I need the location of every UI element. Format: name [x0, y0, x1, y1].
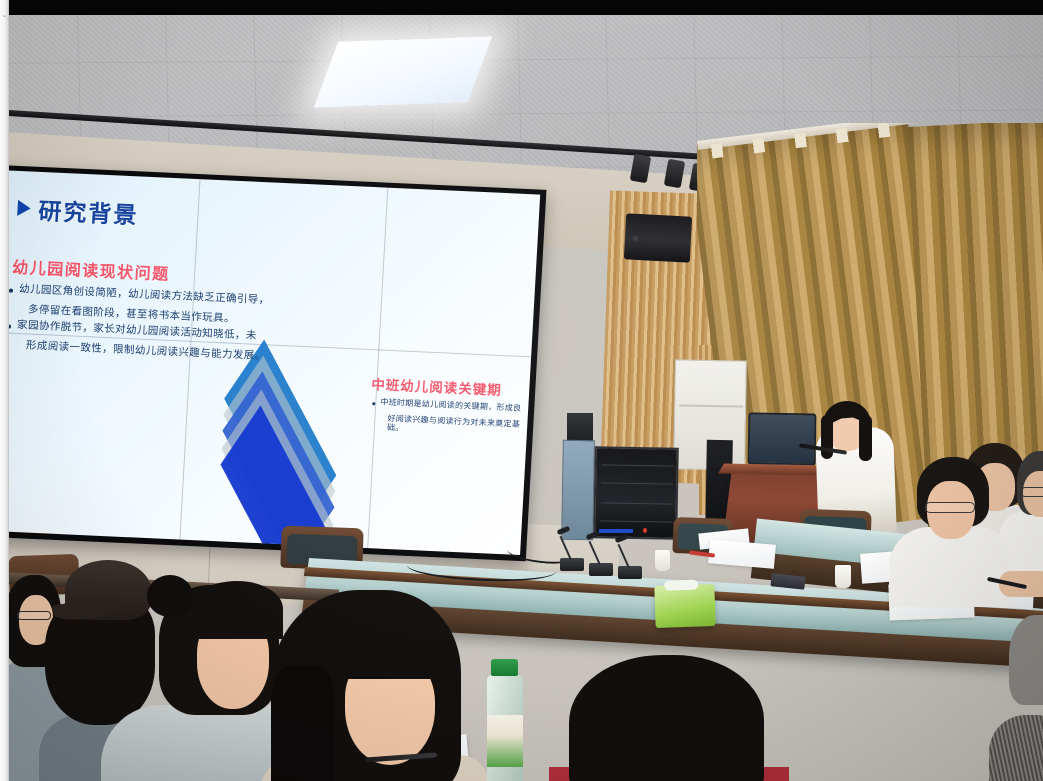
image-viewer-left-rail[interactable]	[0, 0, 9, 781]
conference-microphone	[589, 563, 613, 576]
paper-sheet	[708, 539, 776, 569]
led-video-wall[interactable]: 研究背景 幼儿园阅读现状问题 幼儿园区角创设简陋，幼儿阅读方法缺乏正确引导， 多…	[9, 165, 546, 561]
slide-bullet-item: 家园协作脱节，家长对幼儿园阅读活动知晓低，未 形成阅读一致性，限制幼儿阅读兴趣与…	[9, 320, 307, 365]
slide-section-heading: 幼儿园阅读现状问题	[12, 254, 171, 285]
letterbox-top-bar	[9, 0, 1043, 15]
slide-right-heading: 中班幼儿阅读关键期	[371, 373, 502, 399]
slide-title: 研究背景	[17, 191, 140, 230]
conference-room-photo: 研究背景 幼儿园阅读现状问题 幼儿园区角创设简陋，幼儿阅读方法缺乏正确引导， 多…	[9, 15, 1043, 781]
right-bullet-line-2: 好阅读兴趣与阅读行为对未来奠定基础。	[379, 415, 532, 439]
paper-cup	[835, 565, 851, 588]
conference-microphone	[560, 558, 584, 571]
blue-equipment-cabinet	[561, 440, 595, 541]
audience-member-hair	[187, 581, 283, 639]
eyeglasses-icon	[1021, 487, 1043, 497]
audience-member-hair	[569, 655, 764, 781]
led-panel-light	[314, 36, 492, 107]
bullet-dot-icon	[372, 402, 375, 405]
slide-right-bullet: 中班时期是幼儿阅读的关键期，形成良 好阅读兴趣与阅读行为对未来奠定基础。	[371, 398, 533, 438]
paper-cup	[655, 550, 670, 571]
tissue-box	[654, 584, 715, 628]
triangle-bullet-icon	[17, 200, 31, 217]
bullet-dot-icon	[9, 325, 11, 329]
chevron-down-icon[interactable]: ⌄	[1, 12, 8, 19]
eyeglasses-icon	[17, 611, 51, 620]
wall-speaker-icon	[624, 213, 692, 262]
hair-bun	[147, 575, 193, 617]
rack-status-led	[599, 529, 633, 533]
rack-speaker	[567, 413, 593, 443]
video-wall-seam	[367, 188, 388, 548]
bullet-dot-icon	[9, 289, 13, 293]
bullet-line-2: 形成阅读一致性，限制幼儿阅读兴趣与能力发展。	[16, 340, 266, 362]
water-bottle-cap	[491, 659, 518, 676]
audience-member-hair	[305, 597, 445, 679]
ponytail	[271, 665, 335, 781]
presentation-slide: 研究背景 幼儿园阅读现状问题 幼儿园区角创设简陋，幼儿阅读方法缺乏正确引导， 多…	[9, 170, 540, 555]
rack-power-led	[643, 528, 647, 533]
bullet-line-1: 幼儿园区角创设简陋，幼儿阅读方法缺乏正确引导，	[19, 283, 270, 306]
podium-monitor	[748, 412, 817, 465]
presenter-hair	[859, 415, 872, 461]
eyeglasses-icon	[925, 502, 975, 513]
audience-member-body	[889, 527, 1009, 607]
audience-member-hair	[989, 715, 1043, 781]
slide-bullet-list: 幼儿园区角创设简陋，幼儿阅读方法缺乏正确引导， 多停留在看图阶段，甚至将书本当作…	[9, 284, 309, 370]
water-bottle-label	[487, 715, 523, 767]
av-equipment-rack	[593, 446, 679, 539]
slide-title-text: 研究背景	[38, 192, 140, 230]
image-viewer: ⌄ 研究背景	[0, 0, 1043, 781]
conference-microphone	[618, 566, 642, 579]
stacked-layers-diamond-graphic	[190, 364, 369, 541]
right-bullet-line-1: 中班时期是幼儿阅读的关键期，形成良	[380, 398, 521, 413]
